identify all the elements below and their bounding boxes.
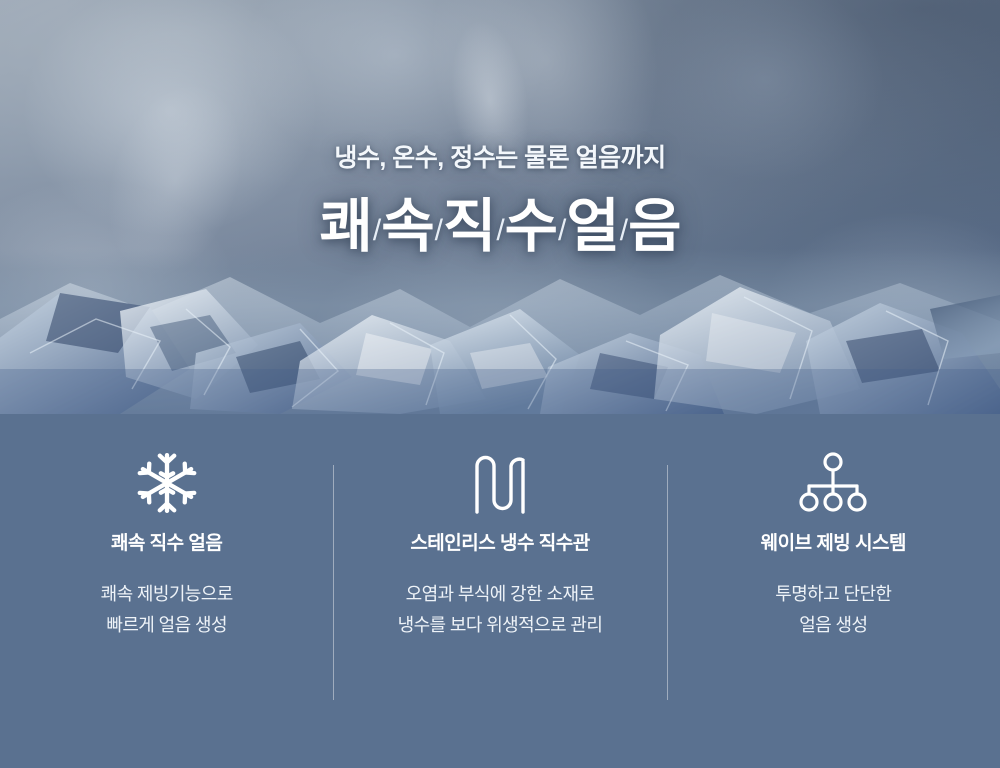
- wave-tree-icon: [667, 414, 1000, 510]
- ice-shards-illustration: [0, 249, 1000, 414]
- hero-banner: 냉수, 온수, 정수는 물론 얼음까지 쾌/속/직/수/얼/음: [0, 0, 1000, 414]
- hero-headline: 쾌/속/직/수/얼/음: [0, 198, 1000, 256]
- features-columns: 쾌속 직수 얼음 쾌속 제빙기능으로 빠르게 얼음 생성 스테인리스 냉수 직수…: [0, 414, 1000, 768]
- feature-item-fast-ice: 쾌속 직수 얼음 쾌속 제빙기능으로 빠르게 얼음 생성: [0, 414, 333, 768]
- feature-description: 투명하고 단단한 얼음 생성: [667, 579, 1000, 641]
- feature-desc-line: 얼음 생성: [667, 610, 1000, 641]
- feature-description: 쾌속 제빙기능으로 빠르게 얼음 생성: [0, 579, 333, 641]
- feature-desc-line: 투명하고 단단한: [667, 579, 1000, 610]
- headline-char: 속: [381, 194, 433, 259]
- headline-separator: /: [558, 216, 565, 246]
- headline-separator: /: [620, 216, 627, 246]
- hero-text-block: 냉수, 온수, 정수는 물론 얼음까지 쾌/속/직/수/얼/음: [0, 0, 1000, 256]
- feature-desc-line: 빠르게 얼음 생성: [0, 610, 333, 641]
- headline-char: 얼: [566, 194, 618, 259]
- headline-char: 직: [443, 194, 495, 259]
- headline-separator: /: [496, 216, 503, 246]
- feature-title: 스테인리스 냉수 직수관: [333, 528, 666, 555]
- feature-desc-line: 오염과 부식에 강한 소재로: [333, 579, 666, 610]
- headline-char: 쾌: [320, 194, 372, 259]
- feature-description: 오염과 부식에 강한 소재로 냉수를 보다 위생적으로 관리: [333, 579, 666, 641]
- ice-cubes-background: [0, 249, 1000, 414]
- feature-item-stainless-pipe: 스테인리스 냉수 직수관 오염과 부식에 강한 소재로 냉수를 보다 위생적으로…: [333, 414, 666, 768]
- serpentine-pipe-icon: [333, 414, 666, 510]
- features-section: 쾌속 직수 얼음 쾌속 제빙기능으로 빠르게 얼음 생성 스테인리스 냉수 직수…: [0, 414, 1000, 768]
- feature-desc-line: 쾌속 제빙기능으로: [0, 579, 333, 610]
- headline-char: 수: [505, 194, 557, 259]
- hero-eyebrow: 냉수, 온수, 정수는 물론 얼음까지: [0, 138, 1000, 174]
- ice-bottom-shade: [0, 369, 1000, 414]
- feature-title: 쾌속 직수 얼음: [0, 528, 333, 555]
- headline-separator: /: [435, 216, 442, 246]
- headline-separator: /: [373, 216, 380, 246]
- snowflake-icon: [0, 414, 333, 510]
- feature-item-wave-ice-system: 웨이브 제빙 시스템 투명하고 단단한 얼음 생성: [667, 414, 1000, 768]
- feature-desc-line: 냉수를 보다 위생적으로 관리: [333, 610, 666, 641]
- feature-title: 웨이브 제빙 시스템: [667, 528, 1000, 555]
- promo-page: 냉수, 온수, 정수는 물론 얼음까지 쾌/속/직/수/얼/음: [0, 0, 1000, 768]
- headline-char: 음: [628, 194, 680, 259]
